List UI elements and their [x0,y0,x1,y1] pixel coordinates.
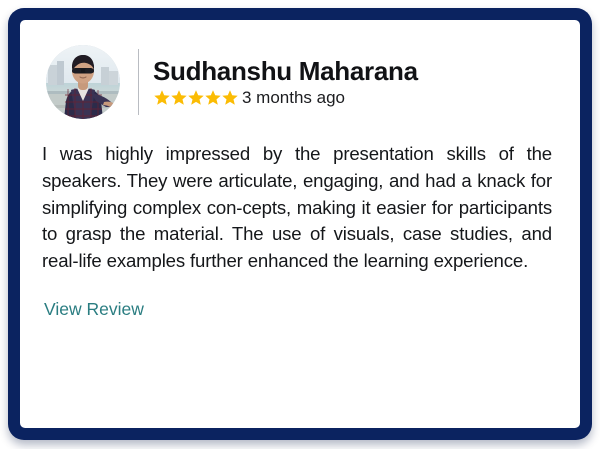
view-review-link[interactable]: View Review [44,301,144,319]
review-footer: View Review [20,275,580,320]
avatar [46,45,120,119]
review-card-screen: Sudhanshu Maharana [0,0,600,449]
review-header: Sudhanshu Maharana [20,20,580,119]
rating-and-date-row: 3 months ago [153,89,418,107]
card-navy-frame: Sudhanshu Maharana [8,8,592,440]
review-text: I was highly impressed by the presentati… [20,119,580,275]
user-photo-avatar-icon [46,45,120,119]
review-card: Sudhanshu Maharana [20,20,580,428]
header-divider [138,49,139,115]
reviewer-name: Sudhanshu Maharana [153,57,418,86]
header-text: Sudhanshu Maharana [153,57,418,106]
rating-stars [153,89,241,107]
review-date: 3 months ago [242,89,345,106]
star-icon-group [153,89,241,107]
